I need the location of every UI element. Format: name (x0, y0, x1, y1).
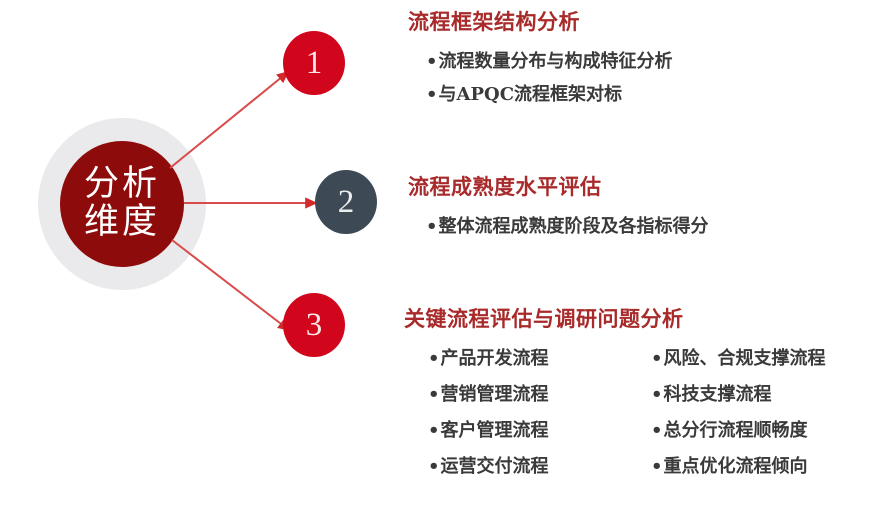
list-item: •运营交付流程 (428, 449, 651, 485)
list-item-label: 重点优化流程倾向 (664, 456, 808, 477)
hub-center-circle[interactable]: 分析 维度 (60, 141, 184, 267)
section-3-heading: 关键流程评估与调研问题分析 (404, 303, 879, 333)
bullet-marker-icon: • (426, 216, 438, 237)
section-1-bullet-list: •流程数量分布与构成特征分析 •与APQC流程框架对标 (426, 45, 673, 112)
list-item-label: 风险、合规支撑流程 (664, 348, 826, 369)
bullet-marker-icon: • (651, 348, 663, 369)
hub-label-line-2: 维度 (84, 204, 160, 242)
section-2-heading: 流程成熟度水平评估 (408, 171, 709, 201)
list-item-label: 营销管理流程 (441, 384, 549, 405)
section-1-heading: 流程框架结构分析 (408, 6, 673, 36)
list-item: •重点优化流程倾向 (651, 449, 879, 485)
list-item: •与APQC流程框架对标 (426, 78, 673, 111)
list-item: •风险、合规支撑流程 (651, 341, 879, 377)
diagram-canvas: 分析 维度 1 2 3 流程框架结构分析 •流程数量分布与构成特征分析 •与AP… (0, 0, 879, 505)
list-item: •流程数量分布与构成特征分析 (426, 45, 673, 78)
list-item-label: 科技支撑流程 (664, 384, 772, 405)
list-item: •产品开发流程 (428, 341, 651, 377)
list-item-label: 总分行流程顺畅度 (664, 420, 808, 441)
list-item: •总分行流程顺畅度 (651, 413, 879, 449)
section-3-left-column: •产品开发流程 •营销管理流程 •客户管理流程 •运营交付流程 (428, 341, 651, 485)
node-circle-1[interactable]: 1 (283, 31, 345, 95)
bullet-marker-icon: • (426, 84, 438, 105)
list-item-label: 整体流程成熟度阶段及各指标得分 (439, 216, 709, 237)
bullet-marker-icon: • (651, 456, 663, 477)
bullet-marker-icon: • (428, 456, 440, 477)
list-item-label: 运营交付流程 (441, 456, 549, 477)
list-item-label: 客户管理流程 (441, 420, 549, 441)
node-circle-2[interactable]: 2 (315, 170, 377, 234)
list-item-label: 产品开发流程 (441, 348, 549, 369)
bullet-marker-icon: • (428, 420, 440, 441)
node-number-3: 3 (306, 307, 323, 344)
section-2-bullet-list: •整体流程成熟度阶段及各指标得分 (426, 210, 709, 243)
section-3-right-column: •风险、合规支撑流程 •科技支撑流程 •总分行流程顺畅度 •重点优化流程倾向 (651, 341, 879, 485)
list-item: •营销管理流程 (428, 377, 651, 413)
section-3: 关键流程评估与调研问题分析 •产品开发流程 •营销管理流程 •客户管理流程 •运… (404, 303, 879, 485)
bullet-marker-icon: • (651, 420, 663, 441)
list-item-label: 流程数量分布与构成特征分析 (439, 51, 673, 72)
list-item: •客户管理流程 (428, 413, 651, 449)
bullet-marker-icon: • (428, 348, 440, 369)
node-number-2: 2 (338, 184, 355, 221)
bullet-marker-icon: • (426, 51, 438, 72)
list-item-label: 与APQC流程框架对标 (439, 84, 623, 105)
section-1: 流程框架结构分析 •流程数量分布与构成特征分析 •与APQC流程框架对标 (408, 6, 673, 112)
list-item: •科技支撑流程 (651, 377, 879, 413)
bullet-marker-icon: • (651, 384, 663, 405)
bullet-marker-icon: • (428, 384, 440, 405)
section-3-bullet-columns: •产品开发流程 •营销管理流程 •客户管理流程 •运营交付流程 •风险、合规支撑… (404, 341, 879, 485)
list-item: •整体流程成熟度阶段及各指标得分 (426, 210, 709, 243)
node-circle-3[interactable]: 3 (283, 293, 345, 357)
section-2: 流程成熟度水平评估 •整体流程成熟度阶段及各指标得分 (408, 171, 709, 243)
hub-label-line-1: 分析 (84, 166, 160, 204)
node-number-1: 1 (306, 45, 323, 82)
